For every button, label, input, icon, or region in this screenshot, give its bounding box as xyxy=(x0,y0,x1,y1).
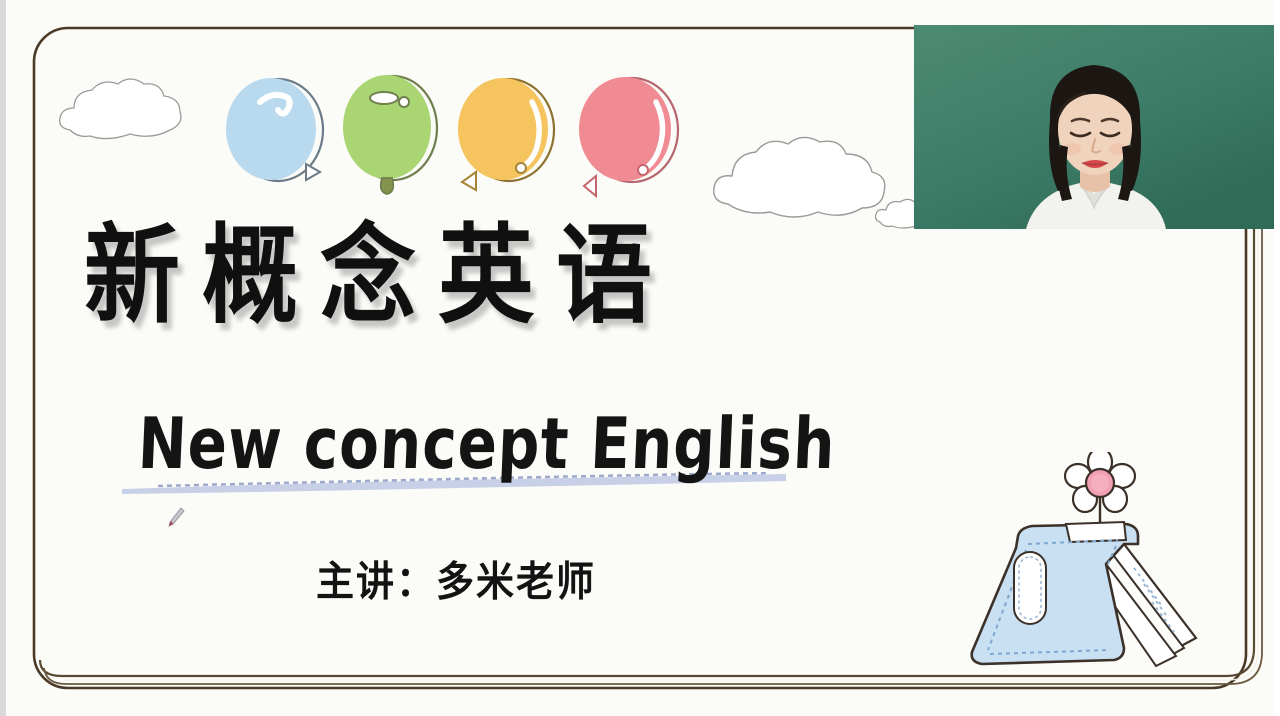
balloon-yellow-icon xyxy=(452,72,560,198)
player-letterbox-right xyxy=(1274,0,1280,716)
open-book-icon xyxy=(948,452,1210,674)
balloon-green-icon xyxy=(338,70,442,198)
slide-screen: 新概念英语 New concept English 主讲：多米老师 xyxy=(0,0,1280,716)
cloud-icon xyxy=(706,132,896,228)
balloon-pink-icon xyxy=(572,72,684,202)
teacher-webcam-video[interactable] xyxy=(914,25,1275,229)
page-title-chinese: 新概念英语 xyxy=(84,222,674,330)
page-subtitle-english: New concept English xyxy=(136,402,837,485)
player-letterbox-left xyxy=(0,0,6,716)
pen-mark-icon xyxy=(166,506,186,530)
cloud-icon xyxy=(52,72,192,150)
presenter-name: 主讲：多米老师 xyxy=(316,548,596,607)
balloon-blue-icon xyxy=(222,72,326,197)
